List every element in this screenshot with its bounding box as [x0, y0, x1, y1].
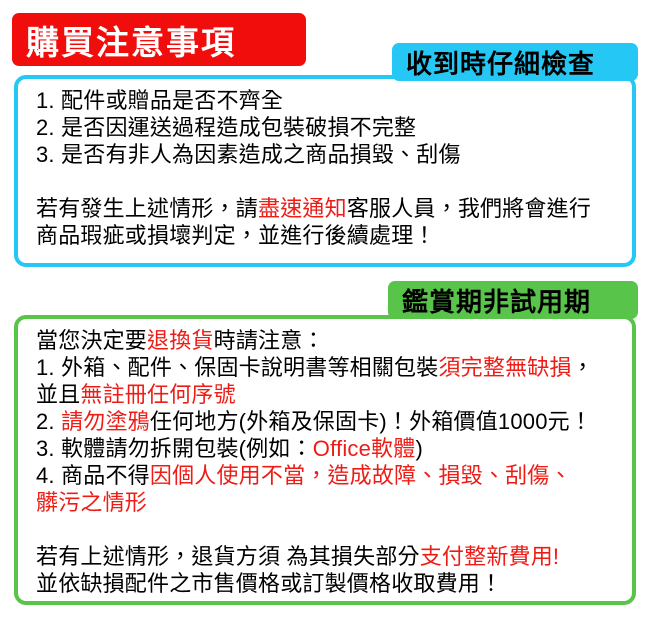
return-exchange-policy-text-block: 當您決定要退換貨時請注意：1. 外箱、配件、保固卡說明書等相關包裝須完整無缺損，…	[36, 327, 622, 597]
text-line-return-1b: 並且無註冊任何序號	[36, 381, 622, 408]
text-segment-return-3-1: Office軟體	[313, 436, 416, 461]
text-segment-inspect-4-0: 若有發生上述情形，請	[36, 196, 258, 221]
text-line-return-1: 1. 外箱、配件、保固卡說明書等相關包裝須完整無缺損，	[36, 354, 622, 381]
text-segment-return-1-1: 須完整無缺損	[438, 355, 571, 380]
text-segment-return-1-2: ，	[572, 355, 594, 380]
text-segment-return-4b-0: 髒污之情形	[36, 490, 147, 515]
text-segment-return-1b-0: 並且	[36, 382, 80, 407]
text-segment-return-2-2: 任何地方(外箱及保固卡)！外箱價值1000元！	[150, 409, 592, 434]
text-line-return-4b: 髒污之情形	[36, 489, 622, 516]
text-line-return-6: 並依缺損配件之市售價格或訂製價格收取費用！	[36, 570, 622, 597]
text-line-inspect-1: 1. 配件或贈品是否不齊全	[36, 87, 622, 114]
text-segment-return-0-1: 退換貨	[147, 328, 214, 353]
inspect-on-receipt-heading-badge: 收到時仔細檢查	[392, 43, 638, 81]
trial-period-heading-label: 鑑賞期非試用期	[402, 282, 591, 319]
text-segment-inspect-4-1: 盡速通知	[258, 196, 347, 221]
text-segment-inspect-3-0: 3. 是否有非人為因素造成之商品損毀、刮傷	[36, 142, 461, 167]
text-segment-return-1-0: 1. 外箱、配件、保固卡說明書等相關包裝	[36, 355, 438, 380]
text-segment-return-0-2: 時請注意：	[214, 328, 325, 353]
text-segment-return-2-1: 請勿塗鴉	[61, 409, 150, 434]
text-segment-inspect-2-0: 2. 是否因運送過程造成包裝破損不完整	[36, 115, 416, 140]
text-segment-return-4-1: 因個人使用不當，造成故障、損毀、刮傷、	[150, 463, 572, 488]
text-line-inspect-3: 3. 是否有非人為因素造成之商品損毀、刮傷	[36, 141, 622, 168]
purchase-notice-heading-badge: 購買注意事項	[12, 13, 306, 66]
text-segment-return-1b-1: 無註冊任何序號	[80, 382, 235, 407]
text-line-return-0: 當您決定要退換貨時請注意：	[36, 327, 622, 354]
text-line-inspect-5: 商品瑕疵或損壞判定，並進行後續處理！	[36, 222, 622, 249]
text-segment-return-3-2: )	[415, 436, 423, 461]
text-segment-inspect-5-0: 商品瑕疵或損壞判定，並進行後續處理！	[36, 223, 436, 248]
inspect-on-receipt-panel: 1. 配件或贈品是否不齊全2. 是否因運送過程造成包裝破損不完整3. 是否有非人…	[14, 75, 636, 267]
text-segment-return-2-0: 2.	[36, 409, 61, 434]
text-line-return-2: 2. 請勿塗鴉任何地方(外箱及保固卡)！外箱價值1000元！	[36, 408, 622, 435]
text-segment-return-4-0: 4. 商品不得	[36, 463, 150, 488]
text-segment-return-6-0: 並依缺損配件之市售價格或訂製價格收取費用！	[36, 571, 502, 596]
purchase-notice-heading-label: 購買注意事項	[26, 16, 236, 64]
text-segment-return-0-0: 當您決定要	[36, 328, 147, 353]
inspect-on-receipt-text-block: 1. 配件或贈品是否不齊全2. 是否因運送過程造成包裝破損不完整3. 是否有非人…	[36, 87, 622, 249]
text-segment-return-5-1: 支付整新費用!	[420, 544, 560, 569]
text-line-return-3: 3. 軟體請勿拆開包裝(例如：Office軟體)	[36, 435, 622, 462]
inspect-on-receipt-heading-label: 收到時仔細檢查	[406, 44, 595, 81]
trial-period-heading-badge: 鑑賞期非試用期	[388, 281, 638, 319]
text-line-inspect-4: 若有發生上述情形，請盡速通知客服人員，我們將會進行	[36, 195, 622, 222]
return-exchange-policy-panel: 當您決定要退換貨時請注意：1. 外箱、配件、保固卡說明書等相關包裝須完整無缺損，…	[14, 315, 636, 605]
text-segment-inspect-4-2: 客服人員，我們將會進行	[347, 196, 591, 221]
text-segment-inspect-1-0: 1. 配件或贈品是否不齊全	[36, 88, 283, 113]
text-line-return-4: 4. 商品不得因個人使用不當，造成故障、損毀、刮傷、	[36, 462, 622, 489]
text-line-return-blank	[36, 516, 622, 543]
text-line-inspect-2: 2. 是否因運送過程造成包裝破損不完整	[36, 114, 622, 141]
text-line-return-5: 若有上述情形，退貨方須 為其損失部分支付整新費用!	[36, 543, 622, 570]
text-segment-return-3-0: 3. 軟體請勿拆開包裝(例如：	[36, 436, 313, 461]
text-segment-return-5-0: 若有上述情形，退貨方須 為其損失部分	[36, 544, 420, 569]
text-line-inspect-blank	[36, 168, 622, 195]
